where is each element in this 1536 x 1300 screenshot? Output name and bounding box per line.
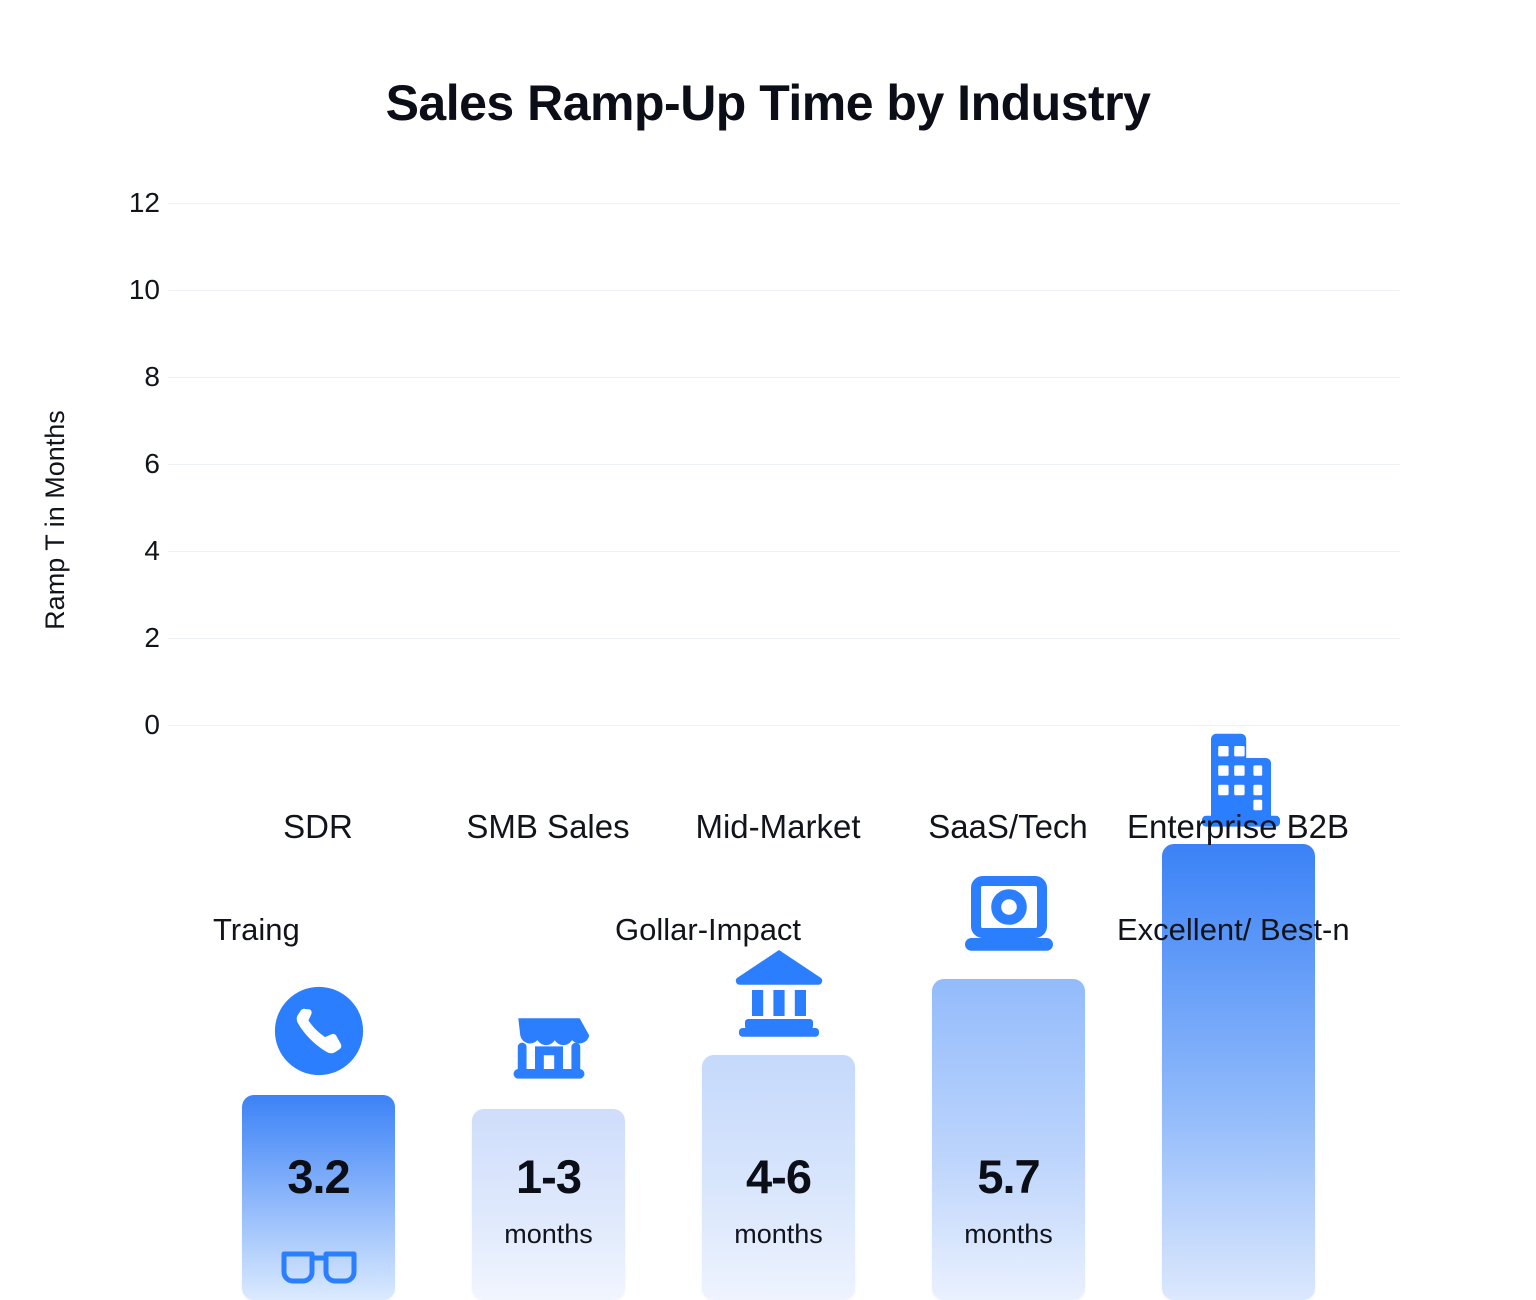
x-label-smb-sales: SMB Sales [418, 808, 678, 846]
bar-unit-mid-market: months [702, 1219, 855, 1250]
glasses-icon [242, 1237, 395, 1297]
footer-annotation-training: Traing [213, 912, 300, 948]
y-tick-8: 8 [100, 361, 160, 393]
y-tick-6: 6 [100, 448, 160, 480]
y-tick-4: 4 [100, 535, 160, 567]
footer-annotation-excellent: Excellent/ Best-n [1117, 912, 1350, 948]
gridline-8 [168, 377, 1400, 378]
bar-unit-smb-sales: months [472, 1219, 625, 1250]
bar-value-saas-tech: 5.7 [932, 1149, 1085, 1204]
bar-unit-saas-tech: months [932, 1219, 1085, 1250]
plot-area: 12 10 8 6 4 2 0 3.2 [168, 203, 1400, 725]
phone-icon [242, 977, 395, 1077]
x-label-enterprise-b2b: Enterprise B2B [1108, 808, 1368, 846]
bar-value-smb-sales: 1-3 [472, 1149, 625, 1204]
x-label-saas-tech: SaaS/Tech [878, 808, 1138, 846]
chart-figure: Sales Ramp-Up Time by Industry Ramp T in… [0, 0, 1536, 1024]
footer-annotation-impact: Gollar-Impact [615, 912, 801, 948]
gridline-4 [168, 551, 1400, 552]
gridline-2 [168, 638, 1400, 639]
laptop-icon [932, 855, 1085, 965]
gridline-10 [168, 290, 1400, 291]
x-label-sdr: SDR [188, 808, 448, 846]
bar-value-mid-market: 4-6 [702, 1149, 855, 1204]
y-tick-2: 2 [100, 622, 160, 654]
bar-smb-sales[interactable] [472, 1109, 625, 1300]
x-label-mid-market: Mid-Market [648, 808, 908, 846]
gridline-12 [168, 203, 1400, 204]
storefront-icon [472, 993, 625, 1093]
bar-saas-tech[interactable] [932, 979, 1085, 1300]
y-tick-12: 12 [100, 187, 160, 219]
y-tick-10: 10 [100, 274, 160, 306]
bar-value-sdr: 3.2 [242, 1149, 395, 1204]
gridline-6 [168, 464, 1400, 465]
y-axis-label: Ramp T in Months [40, 370, 71, 670]
y-tick-0: 0 [100, 709, 160, 741]
chart-title: Sales Ramp-Up Time by Industry [0, 74, 1536, 132]
